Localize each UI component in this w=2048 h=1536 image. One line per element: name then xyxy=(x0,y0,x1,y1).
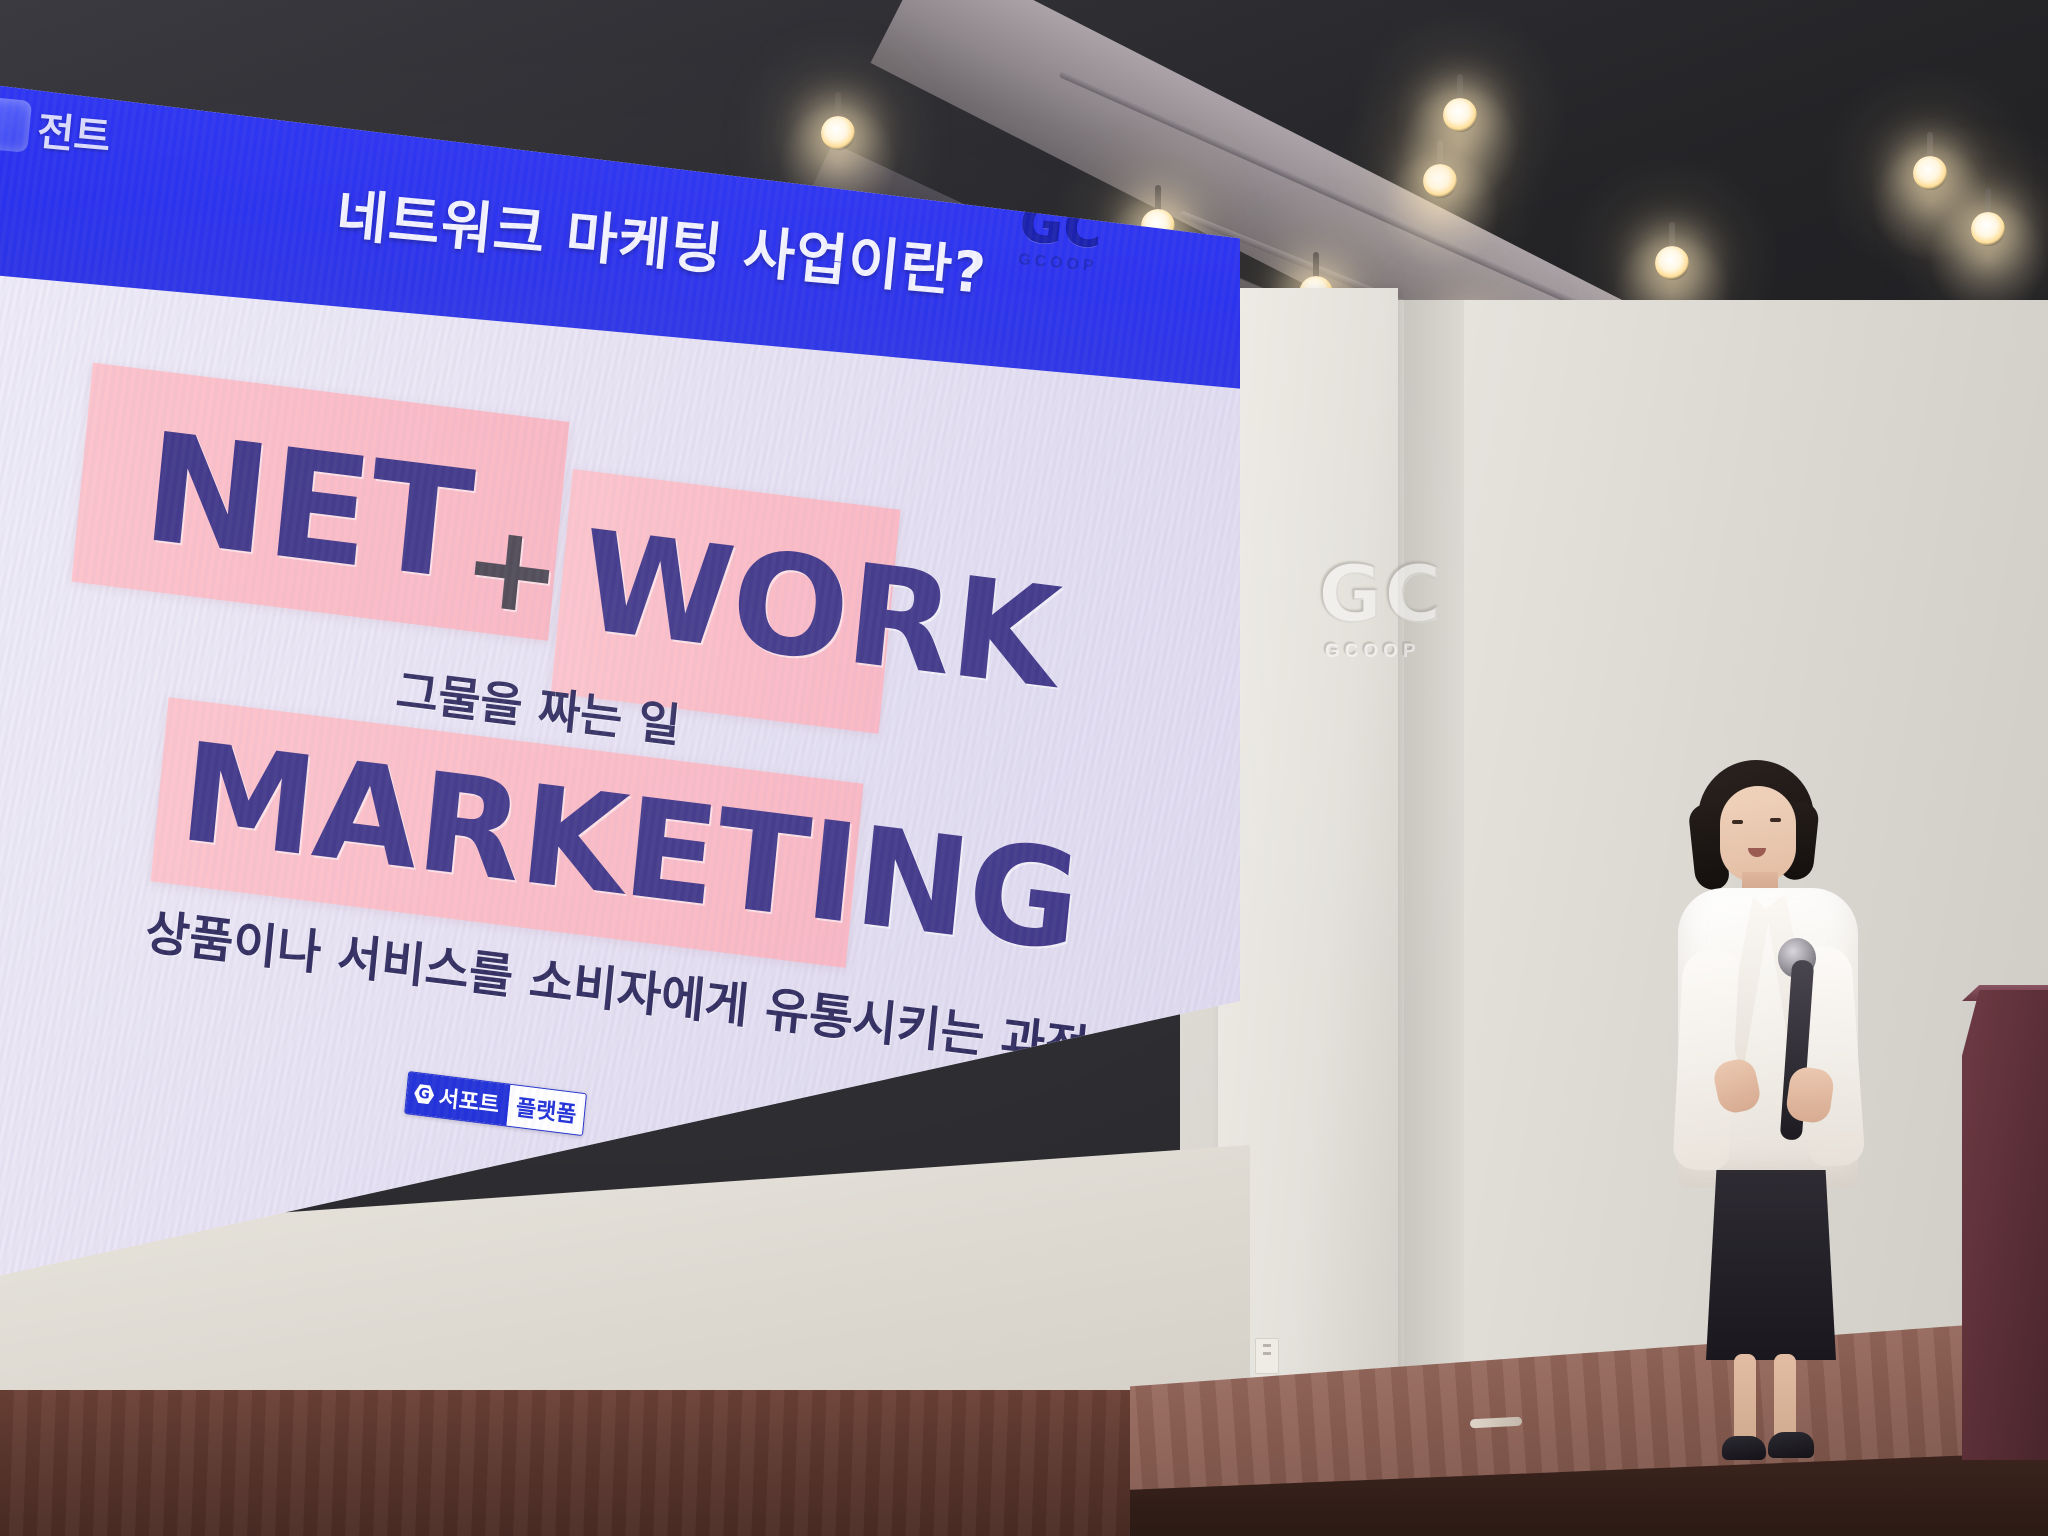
badge-left-segment: G 서포트 xyxy=(405,1072,510,1125)
photo-scene: GC GCOOP 전트 네트워크 마케팅 사업이란? GC GCOOP NET … xyxy=(0,0,2048,1536)
light-bulb-icon xyxy=(1971,212,2005,246)
light-bulb-icon xyxy=(1443,98,1477,132)
presenter-eye-left xyxy=(1732,820,1743,824)
g-hexagon-icon: G xyxy=(413,1083,435,1105)
slide-left-brand: 전트 xyxy=(0,93,114,163)
presenter-eye-right xyxy=(1770,818,1781,822)
badge-right-text: 플랫폼 xyxy=(506,1085,586,1135)
presenter-face xyxy=(1720,786,1796,882)
presenter-shoe-right xyxy=(1768,1432,1814,1458)
wall-gc-logo: GC GCOOP xyxy=(1318,556,1468,716)
presenter xyxy=(1620,760,1920,1400)
presenter-skirt xyxy=(1706,1170,1836,1360)
brand-mark-icon xyxy=(0,96,32,152)
light-bulb-icon xyxy=(821,116,855,150)
wall-gcoop-text: GCOOP xyxy=(1318,640,1468,662)
wall-outlet-icon xyxy=(1255,1338,1279,1374)
brand-left-text: 전트 xyxy=(35,99,114,163)
light-bulb-icon xyxy=(1655,246,1689,280)
light-bulb-icon xyxy=(1913,156,1947,190)
plus-sign-icon: + xyxy=(457,494,568,643)
presenter-shoe-left xyxy=(1722,1436,1766,1460)
support-platform-badge: G 서포트 플랫폼 xyxy=(404,1071,587,1136)
projection-screen: 전트 네트워크 마케팅 사업이란? GC GCOOP NET + WORK MA… xyxy=(0,60,1240,1290)
wall-gc-text: GC xyxy=(1318,556,1468,634)
badge-left-text: 서포트 xyxy=(437,1080,500,1119)
podium xyxy=(1962,990,2048,1460)
wall-pillar-secondary xyxy=(1404,300,1464,1400)
